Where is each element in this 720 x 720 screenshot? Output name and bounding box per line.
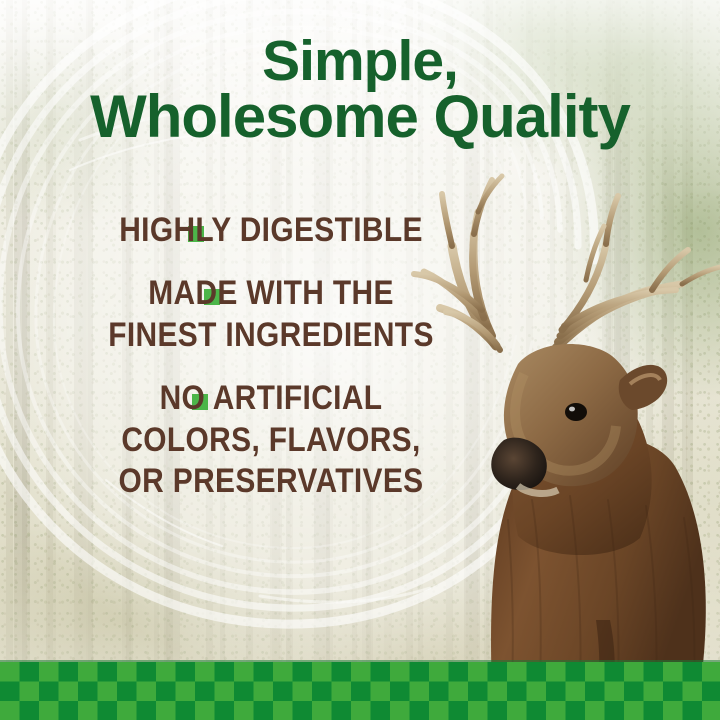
product-feature-poster: Simple, Wholesome Quality HIGHLY DIGESTI… bbox=[0, 0, 720, 720]
bullet-text-finest-ingredients: MADE WITH THE FINEST INGREDIENTS bbox=[64, 273, 478, 356]
headline-line-1: Simple, bbox=[0, 34, 720, 88]
list-item: HIGHLY DIGESTIBLE bbox=[36, 210, 506, 251]
green-checkerboard-border bbox=[0, 662, 720, 720]
bullet-text-highly-digestible: HIGHLY DIGESTIBLE bbox=[64, 210, 478, 251]
poster-content: Simple, Wholesome Quality HIGHLY DIGESTI… bbox=[0, 0, 720, 720]
page-title: Simple, Wholesome Quality bbox=[0, 34, 720, 145]
headline-line-2: Wholesome Quality bbox=[0, 88, 720, 145]
bullet-text-no-artificial: NO ARTIFICIAL COLORS, FLAVORS, OR PRESER… bbox=[64, 378, 478, 502]
list-item: MADE WITH THE FINEST INGREDIENTS bbox=[36, 273, 506, 356]
list-item: NO ARTIFICIAL COLORS, FLAVORS, OR PRESER… bbox=[36, 378, 506, 502]
feature-bullet-list: HIGHLY DIGESTIBLE MADE WITH THE FINEST I… bbox=[36, 210, 506, 525]
